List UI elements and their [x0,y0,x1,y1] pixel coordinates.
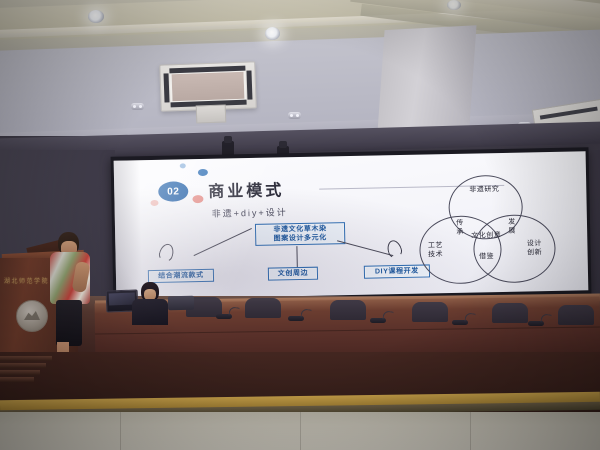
floor-tile-seam [300,412,301,450]
podium-emblem [16,300,48,332]
gooseneck-microphone [528,321,544,326]
floor-tile-seam [120,412,121,450]
diagram-branch-box-1: 结合潮流款式 [148,269,214,283]
diagram-connector-left [194,228,252,256]
venn-overlap-label-right: 发展 [505,219,519,236]
panel-chair [245,298,281,318]
diagram-branch-box-2: 文创周边 [268,267,318,281]
slide-section-badge: 02 [158,181,188,202]
presenter-shorts [56,300,82,346]
ceiling-spotlight [288,112,301,119]
stage-steps [0,356,60,390]
gooseneck-microphone [370,318,386,323]
panel-chair [330,300,366,320]
diagram-arrow-hook-right [385,238,404,259]
ac-diffuser [169,70,246,104]
seated-operator [132,282,168,322]
recessed-downlight [265,27,280,40]
gooseneck-microphone [288,316,304,321]
podium-institution-name: 湖北师范学院 [4,276,49,285]
lecture-hall-photo: 02 商业模式 非遗+diy+设计 非遗文化草木染 图案设计多元化 结合潮流款式… [0,0,600,450]
ac-vent-left [164,73,170,102]
venn-overlap-label-left: 传承 [453,220,467,237]
av-equipment-box [168,296,194,310]
presentation-slide: 02 商业模式 非遗+diy+设计 非遗文化草木染 图案设计多元化 结合潮流款式… [114,151,589,299]
diagram-arrow-hook-left [157,242,176,263]
panel-chair [558,305,594,325]
ac-duct-extension [196,104,227,123]
venn-label-top: 非遗研究 [466,186,502,195]
projection-screen-frame: 02 商业模式 非遗+diy+设计 非遗文化草木染 图案设计多元化 结合潮流款式… [111,147,592,305]
venn-center-label: 文化创意 [471,232,501,241]
ceiling-spotlight [131,103,144,110]
diagram-connector-right [337,240,393,256]
venn-label-left: 工艺技术 [424,242,446,259]
gooseneck-microphone [216,314,232,319]
venn-diagram: 非遗研究 工艺技术 设计创新 传承 发展 借鉴 文化创意 [414,174,556,289]
gooseneck-microphone [452,320,468,325]
decor-dot-pink-small [150,200,158,206]
floor-tiles [0,412,600,450]
panel-chair [412,302,448,322]
venn-label-right: 设计创新 [523,240,545,257]
ac-vent-right [246,70,252,99]
recessed-downlight [447,0,461,10]
panel-chair [492,303,528,323]
venn-overlap-label-bottom: 借鉴 [479,253,495,262]
diagram-center-box: 非遗文化草木染 图案设计多元化 [255,222,345,246]
decor-dot-blue-small [180,163,186,168]
decor-dot-blue [198,169,208,176]
recessed-downlight [88,10,104,23]
screen-shadow [114,160,143,299]
projection-screen[interactable]: 02 商业模式 非遗+diy+设计 非遗文化草木染 图案设计多元化 结合潮流款式… [114,151,589,299]
slide-title: 商业模式 [208,176,284,202]
ac-vent-top [540,107,598,120]
operator-torso [132,299,168,325]
decor-dot-pink [192,195,203,203]
slide-subtitle: 非遗+diy+设计 [212,205,288,220]
center-box-line-2: 图案设计多元化 [259,233,341,244]
floor-tile-seam [470,412,471,450]
